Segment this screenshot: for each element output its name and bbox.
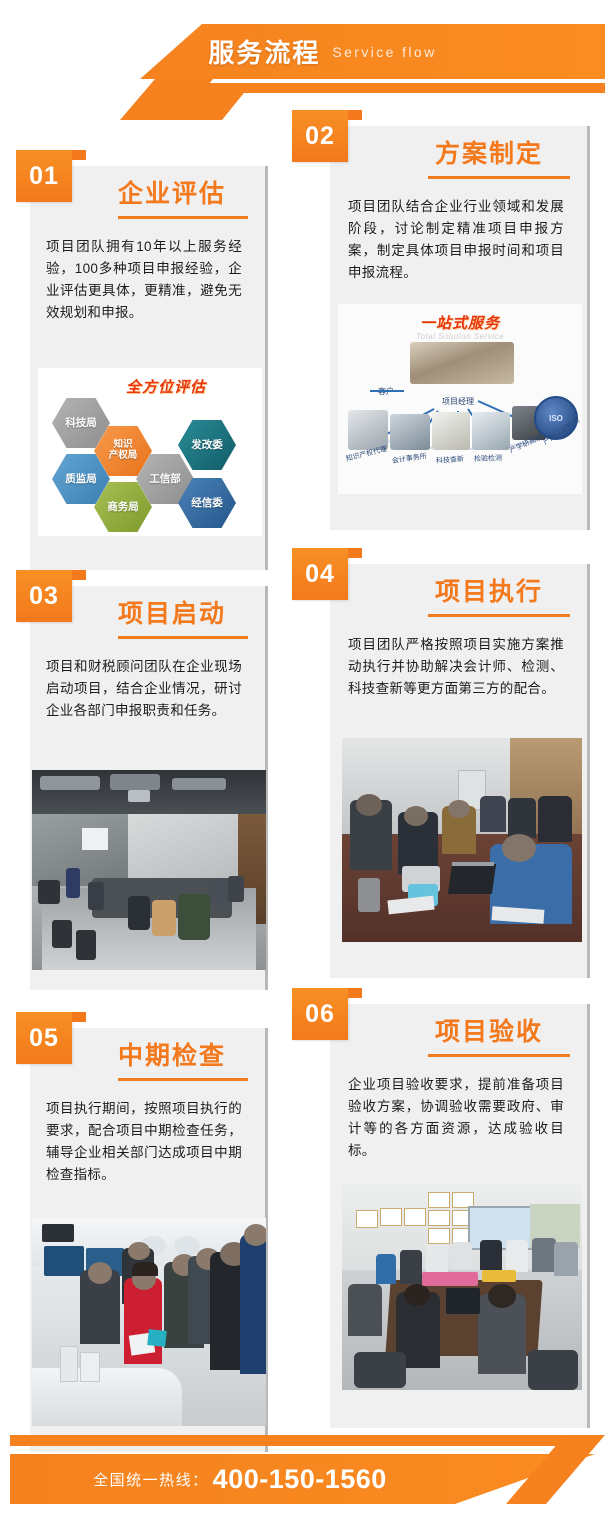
service-step-card-05[interactable]: 05 中期检查 项目执行期间，按照项目执行的要求，配合项目中期检查任务，辅导企业… [16, 1012, 268, 1452]
page-footer: 全国统一热线： 400-150-1560 [0, 1400, 605, 1538]
infographic-title: 一站式服务 [338, 312, 582, 333]
card-title-rule [118, 216, 248, 219]
one-stop-service-infographic: 一站式服务 Total Solution Service 客户 项目经理 ISO… [338, 304, 582, 494]
header-accent-stripe [152, 83, 605, 93]
service-step-card-06[interactable]: 06 项目验收 企业项目验收要求，提前准备项目验收方案，协调验收需要政府、审计等… [292, 988, 590, 1428]
step-number-badge: 01 [16, 150, 72, 202]
step-badge-nub [72, 1012, 86, 1022]
hotline-group: 全国统一热线： 400-150-1560 [0, 1454, 480, 1504]
node-label-novelty: 科技查新 [436, 454, 465, 466]
page-title: 服务流程 [208, 33, 320, 70]
step-number-badge: 03 [16, 570, 72, 622]
step-badge-nub [348, 110, 362, 120]
node-label-testing: 检验检测 [474, 453, 502, 464]
card-title-rule [428, 614, 570, 617]
card-title: 项目启动 [44, 592, 256, 630]
card-title: 企业评估 [44, 172, 256, 210]
step-number-badge: 05 [16, 1012, 72, 1064]
acceptance-meeting-photo [342, 1184, 582, 1390]
service-step-card-03[interactable]: 03 项目启动 项目和财税顾问团队在企业现场启动项目，结合企业情况，研讨企业各部… [16, 570, 268, 990]
card-title-rule [118, 636, 248, 639]
arrow-to-client [370, 390, 404, 392]
service-step-card-01[interactable]: 01 企业评估 项目团队拥有10年以上服务经验，100多种项目申报经验，企业评估… [16, 150, 268, 570]
thumb-accounting [390, 414, 430, 450]
node-label-accounting: 会计事务所 [391, 451, 427, 466]
card-description: 项目团队拥有10年以上服务经验，100多种项目申报经验，企业评估更具体，更精准，… [46, 236, 242, 323]
card-description: 项目团队结合企业行业领域和发展阶段，讨论制定精准项目申报方案，制定具体项目申报时… [348, 196, 564, 283]
step-badge-nub [72, 150, 86, 160]
conference-room-kickoff-photo [32, 770, 266, 970]
showroom-site-visit-photo [32, 1218, 266, 1426]
card-description: 项目执行期间，按照项目执行的要求，配合项目中期检查任务，辅导企业相关部门达成项目… [46, 1098, 242, 1185]
card-title-rule [428, 1054, 570, 1057]
card-description: 项目团队严格按照项目实施方案推动执行并协助解决会计师、检测、科技查新等更方面第三… [348, 634, 564, 700]
card-title: 中期检查 [44, 1034, 256, 1072]
thumb-testing [472, 412, 510, 450]
hotline-number[interactable]: 400-150-1560 [213, 1464, 387, 1495]
footer-accent-stripe [10, 1435, 570, 1446]
step-number-badge: 02 [292, 110, 348, 162]
step-badge-nub [348, 548, 362, 558]
card-title-rule [118, 1078, 248, 1081]
card-title: 项目验收 [344, 1010, 580, 1048]
step-badge-nub [348, 988, 362, 998]
infographic-subtitle: Total Solution Service [338, 332, 582, 341]
service-step-card-04[interactable]: 04 项目执行 项目团队严格按照项目实施方案推动执行并协助解决会计师、检测、科技… [292, 548, 590, 978]
page-header: 服务流程 Service flow [0, 0, 605, 120]
step-number-badge: 06 [292, 988, 348, 1040]
service-flow-grid: 01 企业评估 项目团队拥有10年以上服务经验，100多种项目申报经验，企业评估… [0, 104, 605, 1394]
thumb-novelty [432, 412, 470, 450]
hex-node-fagai: 发改委 [178, 420, 236, 470]
infographic-title: 全方位评估 [126, 376, 206, 397]
card-description: 项目和财税顾问团队在企业现场启动项目，结合企业情况，研讨企业各部门申报职责和任务… [46, 656, 242, 722]
team-working-meeting-photo [342, 738, 582, 942]
hotline-label: 全国统一热线： [93, 1469, 209, 1490]
header-title-group: 服务流程 Service flow [0, 24, 605, 79]
card-title-rule [428, 176, 570, 179]
step-number-badge: 04 [292, 548, 348, 600]
step-badge-nub [72, 570, 86, 580]
service-step-card-02[interactable]: 02 方案制定 项目团队结合企业行业领域和发展阶段，讨论制定精准项目申报方案，制… [292, 110, 590, 530]
card-description: 企业项目验收要求，提前准备项目验收方案，协调验收需要政府、审计等的各方面资源，达… [348, 1074, 564, 1161]
page-subtitle: Service flow [332, 44, 436, 60]
card-title: 项目执行 [344, 570, 580, 608]
card-title: 方案制定 [344, 132, 580, 170]
comprehensive-assessment-infographic: 全方位评估 科技局 知识产权局 发改委 质监局 工信部 商务局 经信委 [38, 368, 262, 536]
